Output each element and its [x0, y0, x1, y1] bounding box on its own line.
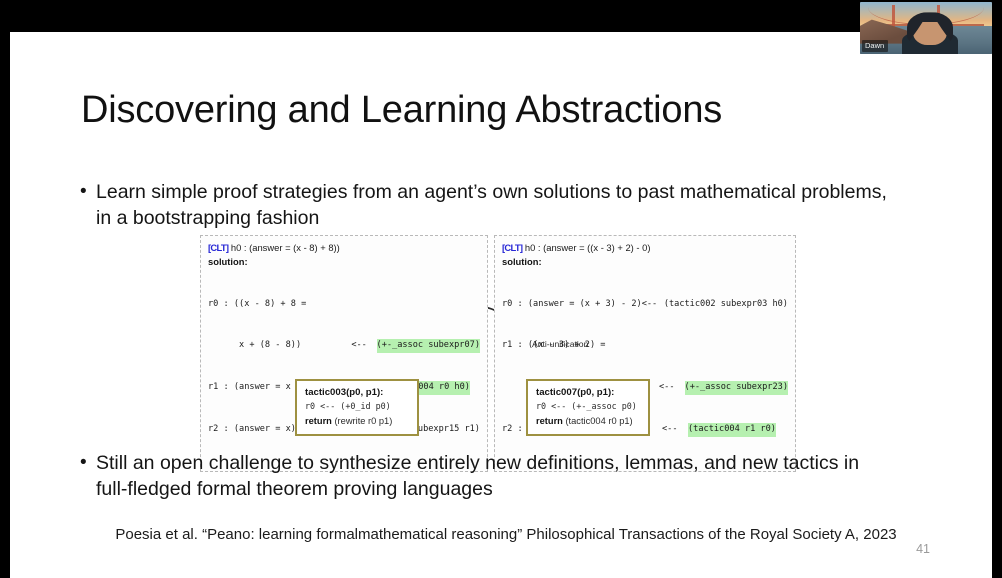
page-title: Discovering and Learning Abstractions — [81, 89, 722, 132]
code-line-arrow: <-- — [662, 423, 688, 437]
code-line-lhs: x + (8 - 8)) — [208, 339, 351, 353]
code-line-arrow — [356, 298, 382, 312]
screen-root: Discovering and Learning Abstractions • … — [0, 0, 1002, 578]
bullet-item-1: • Learn simple proof strategies from an … — [80, 179, 890, 232]
bullet-item-2: • Still an open challenge to synthesize … — [80, 450, 880, 503]
presentation-slide: Discovering and Learning Abstractions • … — [10, 32, 992, 578]
code-line-lhs: r0 : ((x - 8) + 8 = — [208, 298, 356, 312]
code-line-rhs-highlighted: (+-_assoc subexpr23) — [685, 381, 788, 395]
participant-name-label: Dawn — [862, 40, 888, 52]
return-keyword: return — [305, 416, 332, 426]
code-line: x + (8 - 8)) <-- (+-_assoc subexpr07) — [208, 339, 480, 353]
code-box-left-header: [CLT] h0 : (answer = (x - 8) + 8)) — [208, 241, 480, 255]
anti-unification-label: Anti-unification — [532, 339, 588, 349]
code-box-left-goal: h0 : (answer = (x - 8) + 8)) — [228, 242, 340, 253]
bullet-marker: • — [80, 179, 96, 205]
code-line-arrow: <-- — [642, 298, 664, 312]
code-box-right-header: [CLT] h0 : (answer = ((x - 3) + 2) - 0) — [502, 241, 788, 255]
clt-badge: [CLT] — [502, 242, 522, 253]
bullet-text-1: Learn simple proof strategies from an ag… — [96, 179, 890, 232]
tactic-box-return: return (tactic004 r0 p1) — [536, 414, 640, 428]
code-line-arrow — [662, 339, 688, 353]
code-line-arrow: <-- — [659, 381, 685, 395]
bullet-text-2: Still an open challenge to synthesize en… — [96, 450, 880, 503]
return-keyword: return — [536, 416, 563, 426]
return-expression: (tactic004 r0 p1) — [563, 416, 633, 426]
tactic-box-return: return (rewrite r0 p1) — [305, 414, 409, 428]
code-box-left-solution-label: solution: — [208, 255, 480, 270]
code-box-right-goal: h0 : (answer = ((x - 3) + 2) - 0) — [522, 242, 650, 253]
tactic-box-tactic007: tactic007(p0, p1): r0 <-- (+-_assoc p0) … — [526, 379, 650, 436]
tactic-box-tactic003: tactic003(p0, p1): r0 <-- (+0_id p0) ret… — [295, 379, 419, 436]
code-line-lhs: r0 : (answer = (x + 3) - 2) — [502, 298, 642, 312]
tactic-box-body: r0 <-- (+-_assoc p0) — [536, 400, 640, 413]
code-line: r0 : ((x - 8) + 8 = — [208, 298, 480, 312]
return-expression: (rewrite r0 p1) — [332, 416, 392, 426]
code-line-rhs: (tactic002 subexpr03 h0) — [664, 298, 788, 312]
tactic-box-title: tactic003(p0, p1): — [305, 386, 409, 400]
webcam-video-tile[interactable]: Dawn — [860, 2, 992, 54]
code-line-rhs-highlighted: (tactic004 r1 r0) — [688, 423, 776, 437]
slide-page-number: 41 — [916, 542, 930, 556]
code-line: r0 : (answer = (x + 3) - 2) <-- (tactic0… — [502, 298, 788, 312]
code-line-rhs-highlighted: (+-_assoc subexpr07) — [377, 339, 480, 353]
citation-text: Poesia et al. “Peano: learning formalmat… — [106, 524, 906, 545]
code-line-arrow: <-- — [351, 339, 376, 353]
bullet-marker: • — [80, 450, 96, 476]
tactic-box-body: r0 <-- (+0_id p0) — [305, 400, 409, 413]
tactic-box-title: tactic007(p0, p1): — [536, 386, 640, 400]
abstraction-diagram: [CLT] h0 : (answer = (x - 8) + 8)) solut… — [190, 235, 810, 425]
code-box-right-solution-label: solution: — [502, 255, 788, 270]
clt-badge: [CLT] — [208, 242, 228, 253]
